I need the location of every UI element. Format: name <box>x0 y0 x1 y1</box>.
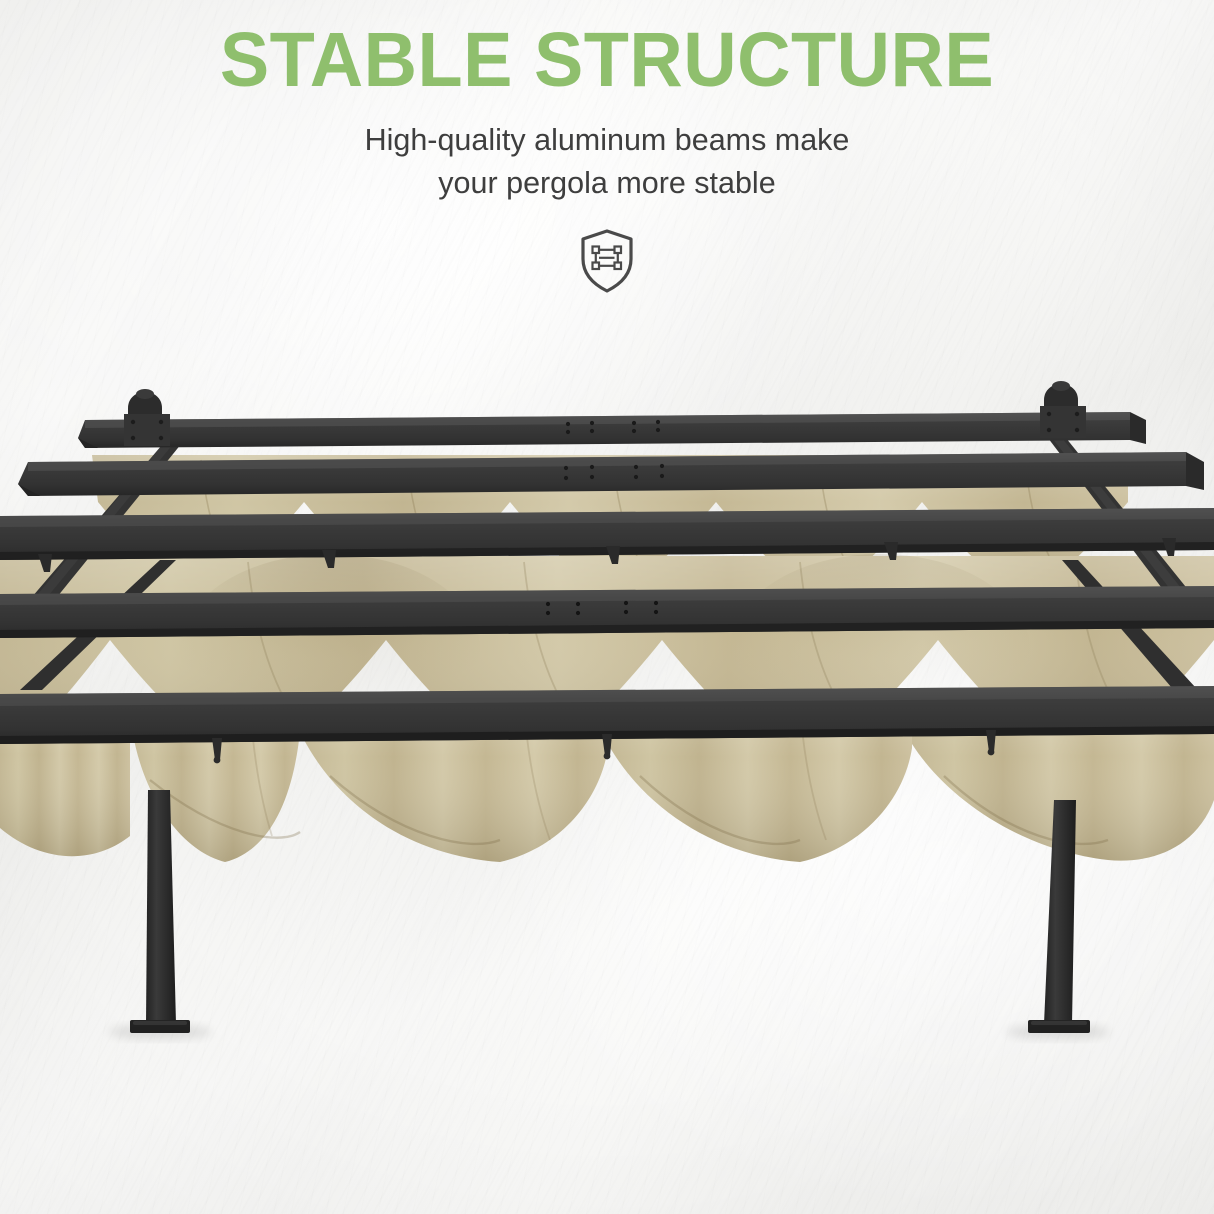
page-subtitle: High-quality aluminum beams make your pe… <box>0 99 1214 206</box>
header-block: STABLE STRUCTURE High-quality aluminum b… <box>0 0 1214 206</box>
subtitle-line-1: High-quality aluminum beams make <box>365 123 850 157</box>
pergola-post-cap-left <box>124 389 170 446</box>
pergola-post-cap-right <box>1040 381 1086 438</box>
pergola-ground-shadow <box>108 1025 1110 1039</box>
product-feature-image: STABLE STRUCTURE High-quality aluminum b… <box>0 0 1214 1214</box>
shield-frame-icon <box>578 228 636 294</box>
pergola-beam-row-1 <box>78 412 1146 448</box>
feature-badge <box>0 228 1214 294</box>
page-title: STABLE STRUCTURE <box>24 0 1189 99</box>
subtitle-line-2: your pergola more stable <box>438 166 775 200</box>
